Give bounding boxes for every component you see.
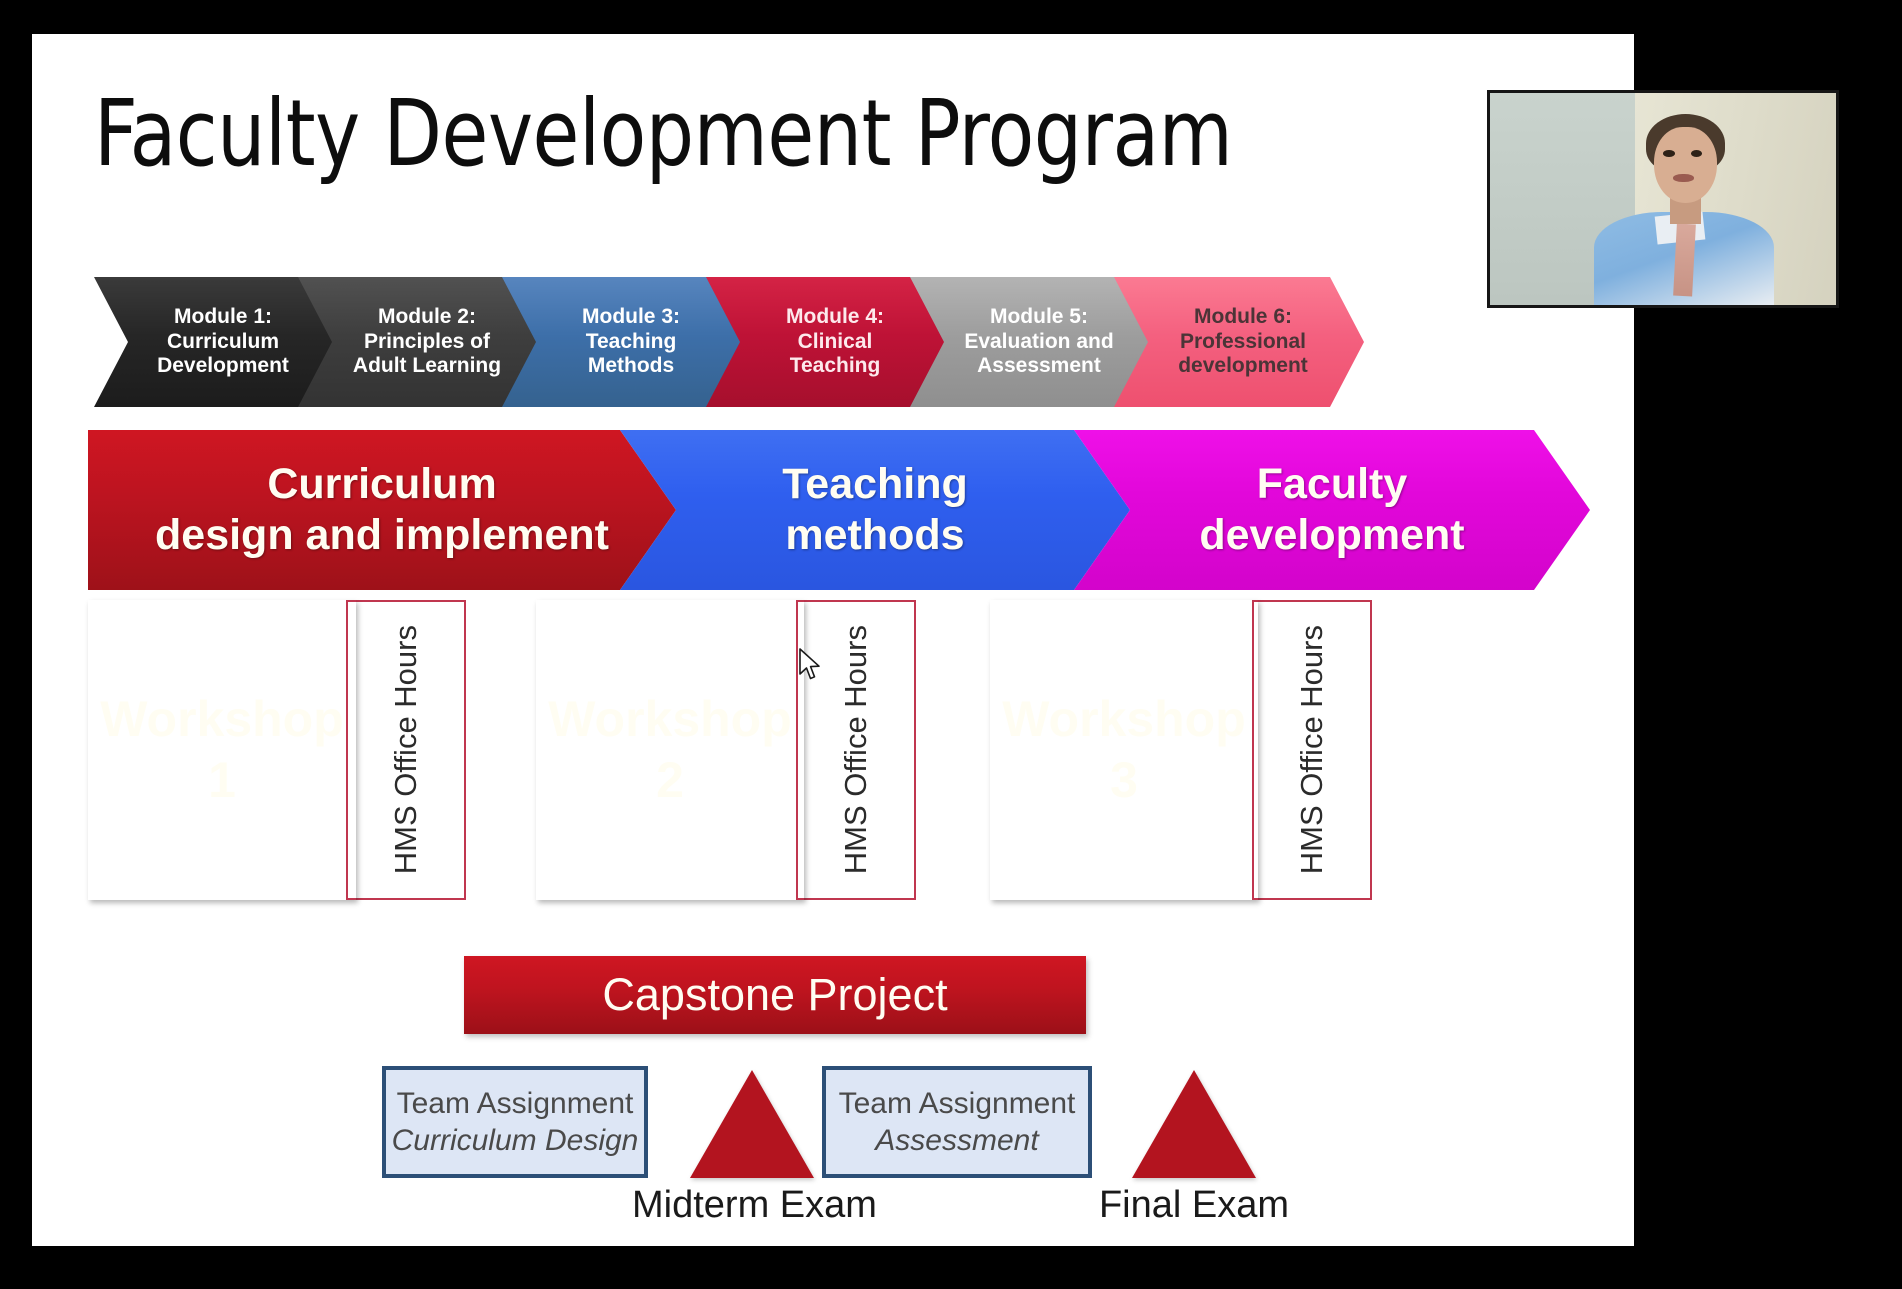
team-assignment-box-1[interactable]: Team Assignment Curriculum Design (382, 1066, 648, 1178)
module-chevron-strip: Module 1: Curriculum Development Module … (94, 277, 1574, 407)
workshop-box-1[interactable]: Workshop 1 (88, 600, 356, 900)
module-1-label: Module 1: (128, 305, 318, 330)
module-6-sub: Professional (1178, 330, 1308, 355)
phase-chevron-strip: Curriculum design and implement Teaching… (88, 430, 1590, 590)
assignment-2-title: Team Assignment (839, 1085, 1076, 1123)
webcam-tie (1673, 224, 1696, 297)
office-hours-box-2[interactable]: HMS Office Hours (796, 600, 916, 900)
phase-chevron-curriculum[interactable]: Curriculum design and implement (88, 430, 676, 590)
workshop-2-name: Workshop (548, 689, 792, 750)
module-3-sub: Teaching (582, 330, 680, 355)
workshop-3-number: 3 (1110, 750, 1138, 811)
module-chevron-1[interactable]: Module 1: Curriculum Development (94, 277, 344, 407)
module-6-label: Module 6: (1178, 305, 1308, 330)
webcam-face (1654, 127, 1716, 203)
webcam-mouth (1673, 174, 1694, 182)
page-title: Faculty Development Program (94, 86, 1474, 183)
office-hours-label-3: HMS Office Hours (1294, 625, 1330, 874)
module-chevron-3[interactable]: Module 3: Teaching Methods (502, 277, 752, 407)
phase-chevron-faculty[interactable]: Faculty development (1074, 430, 1590, 590)
workshop-1-name: Workshop (100, 689, 344, 750)
workshop-box-3[interactable]: Workshop 3 (990, 600, 1258, 900)
workshop-1-number: 1 (208, 750, 236, 811)
module-4-sub2: Teaching (786, 354, 884, 379)
mouse-cursor-icon (798, 648, 824, 682)
phase-1-line1: Curriculum (267, 459, 496, 510)
workshop-group-3: HMS Office Hours Workshop 3 (990, 600, 1410, 920)
module-5-sub2: Assessment (964, 354, 1113, 379)
module-chevron-2[interactable]: Module 2: Principles of Adult Learning (298, 277, 548, 407)
module-chevron-4[interactable]: Module 4: Clinical Teaching (706, 277, 956, 407)
workshop-row: HMS Office Hours Workshop 1 HMS Office H… (88, 600, 1590, 920)
midterm-exam-label: Midterm Exam (632, 1184, 872, 1227)
assignment-1-subtitle: Curriculum Design (392, 1122, 639, 1160)
module-4-label: Module 4: (786, 305, 884, 330)
capstone-label: Capstone Project (602, 969, 947, 1021)
presentation-slide: Faculty Development Program Module 1: Cu… (32, 34, 1634, 1246)
module-chevron-5[interactable]: Module 5: Evaluation and Assessment (910, 277, 1160, 407)
module-2-sub: Principles of (353, 330, 501, 355)
screen-letterbox: Faculty Development Program Module 1: Cu… (0, 0, 1902, 1289)
module-1-sub: Curriculum Development (128, 330, 318, 380)
midterm-exam-triangle-icon (690, 1070, 814, 1178)
module-3-sub2: Methods (582, 354, 680, 379)
phase-2-line2: methods (785, 510, 964, 561)
presenter-video-thumbnail[interactable] (1487, 90, 1839, 308)
module-chevron-6[interactable]: Module 6: Professional development (1114, 277, 1364, 407)
final-exam-triangle-icon (1132, 1070, 1256, 1178)
module-3-label: Module 3: (582, 305, 680, 330)
module-2-label: Module 2: (353, 305, 501, 330)
workshop-group-1: HMS Office Hours Workshop 1 (88, 600, 508, 920)
phase-2-line1: Teaching (782, 459, 968, 510)
final-exam-label: Final Exam (1074, 1184, 1314, 1227)
assignment-2-subtitle: Assessment (875, 1122, 1038, 1160)
module-6-sub2: development (1178, 354, 1308, 379)
phase-chevron-teaching[interactable]: Teaching methods (620, 430, 1130, 590)
module-4-sub: Clinical (786, 330, 884, 355)
workshop-group-2: HMS Office Hours Workshop 2 (536, 600, 956, 920)
assignment-1-title: Team Assignment (397, 1085, 634, 1123)
module-2-sub2: Adult Learning (353, 354, 501, 379)
office-hours-label-2: HMS Office Hours (838, 625, 874, 874)
phase-1-line2: design and implement (155, 510, 609, 561)
office-hours-box-3[interactable]: HMS Office Hours (1252, 600, 1372, 900)
office-hours-label-1: HMS Office Hours (388, 625, 424, 874)
module-5-label: Module 5: (964, 305, 1113, 330)
workshop-3-name: Workshop (1002, 689, 1246, 750)
workshop-2-number: 2 (656, 750, 684, 811)
module-5-sub: Evaluation and (964, 330, 1113, 355)
capstone-project-bar[interactable]: Capstone Project (464, 956, 1086, 1034)
workshop-box-2[interactable]: Workshop 2 (536, 600, 804, 900)
phase-3-line1: Faculty (1257, 459, 1408, 510)
office-hours-box-1[interactable]: HMS Office Hours (346, 600, 466, 900)
team-assignment-box-2[interactable]: Team Assignment Assessment (822, 1066, 1092, 1178)
phase-3-line2: development (1199, 510, 1464, 561)
